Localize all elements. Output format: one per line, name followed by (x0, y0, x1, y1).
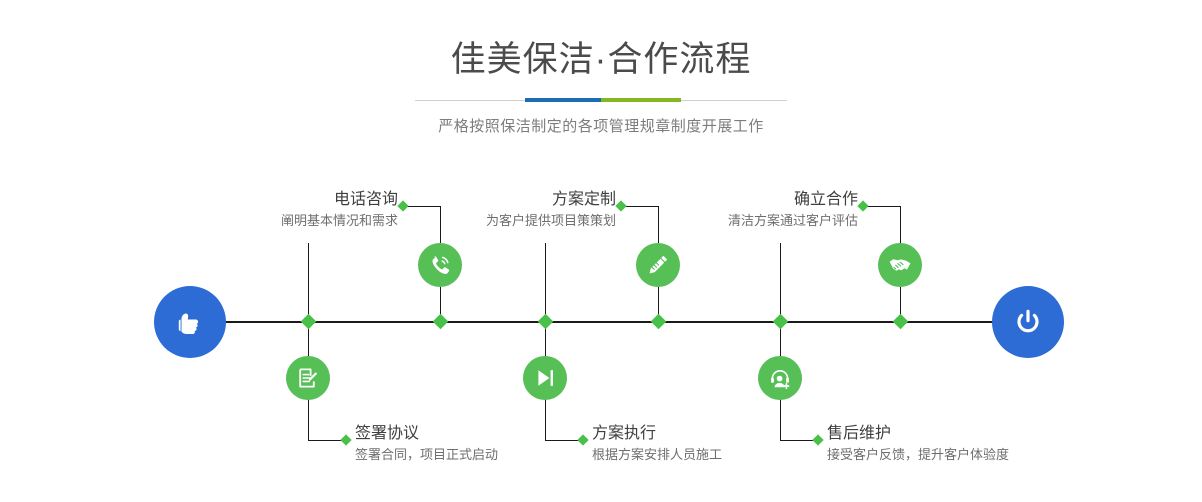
pointing-hand-icon (171, 303, 209, 341)
step-label-6: 售后维护 接受客户反馈，提升客户体验度 (827, 423, 1157, 465)
step-icon-3[interactable] (636, 243, 680, 287)
axis-marker-4 (651, 314, 667, 330)
step-icon-6[interactable] (758, 356, 802, 400)
flow-end-node[interactable] (992, 286, 1064, 358)
power-icon (1009, 303, 1047, 341)
connector-v-3 (545, 243, 546, 323)
connector-riser-3 (658, 206, 659, 243)
connector-v-1 (308, 243, 309, 323)
connector-riser-2 (308, 400, 309, 441)
axis-marker-1 (301, 314, 317, 330)
pencil-ruler-icon (645, 252, 671, 278)
step-icon-1[interactable] (418, 243, 462, 287)
step-icon-4[interactable] (523, 356, 567, 400)
connector-riser-6 (780, 400, 781, 441)
document-edit-icon (295, 365, 321, 391)
step-subtitle-3: 为客户提供项目策策划 (340, 211, 616, 231)
connector-riser-5 (900, 206, 901, 243)
flow-start-node[interactable] (154, 286, 226, 358)
label-marker-2 (340, 434, 351, 445)
step-label-3: 方案定制 为客户提供项目策策划 (340, 189, 616, 231)
flow-infographic: 佳美保洁·合作流程 严格按照保洁制定的各项管理规章制度开展工作 (0, 0, 1202, 502)
handshake-icon (887, 252, 913, 278)
connector-riser-4 (545, 400, 546, 441)
step-icon-2[interactable] (286, 356, 330, 400)
connector-riser-1 (440, 206, 441, 243)
axis-marker-2 (433, 314, 449, 330)
axis-marker-3 (538, 314, 554, 330)
label-marker-5 (857, 200, 868, 211)
step-subtitle-6: 接受客户反馈，提升客户体验度 (827, 445, 1157, 465)
step-icon-5[interactable] (878, 243, 922, 287)
step-title-6: 售后维护 (827, 423, 1157, 445)
play-skip-icon (532, 365, 558, 391)
step-subtitle-5: 清洁方案通过客户评估 (580, 211, 858, 231)
customer-service-add-icon (767, 365, 793, 391)
axis-marker-6 (893, 314, 909, 330)
process-flow: 电话咨询 阐明基本情况和需求 签署协议 签署合同，项目正式启动 (0, 0, 1202, 502)
axis-marker-5 (773, 314, 789, 330)
connector-h-1 (404, 206, 441, 207)
connector-h-5 (864, 206, 901, 207)
step-title-3: 方案定制 (340, 189, 616, 211)
phone-call-icon (427, 252, 453, 278)
connector-v-5 (780, 243, 781, 323)
connector-h-3 (622, 206, 659, 207)
